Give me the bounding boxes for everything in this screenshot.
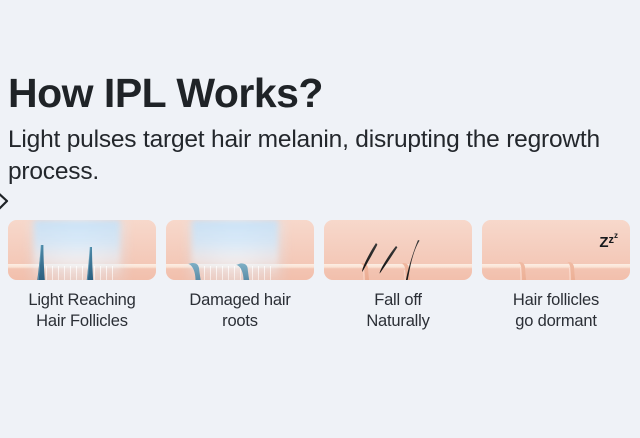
sleep-zzz-icon: Zzz	[599, 232, 618, 251]
step-caption-1-line2: Hair Follicles	[36, 312, 128, 330]
step-caption-1: Light Reaching Hair Follicles	[8, 290, 156, 332]
step-caption-3: Fall off Naturally	[324, 290, 472, 332]
zzz-z1: Z	[599, 234, 608, 251]
step-illustration-1	[8, 220, 156, 280]
infographic-page: How IPL Works? Light pulses target hair …	[0, 0, 640, 438]
step-caption-4-line2: go dormant	[515, 312, 596, 330]
step-item-4: Zzz Hair follicles go dormant	[482, 220, 630, 332]
page-title: How IPL Works?	[8, 73, 323, 115]
step-illustration-3	[324, 220, 472, 280]
step-item-2: Damaged hair roots	[166, 220, 314, 332]
step-caption-4: Hair follicles go dormant	[482, 290, 630, 332]
hair-follicle-group-damaged	[166, 220, 314, 280]
step-caption-3-line1: Fall off	[374, 291, 422, 309]
step-caption-4-line1: Hair follicles	[513, 291, 599, 309]
step-illustration-2	[166, 220, 314, 280]
step-caption-2-line1: Damaged hair	[189, 291, 290, 309]
hair-follicle-group-healthy	[8, 220, 156, 280]
falling-hair-group	[324, 220, 472, 280]
step-item-1: Light Reaching Hair Follicles	[8, 220, 156, 332]
step-item-3: Fall off Naturally	[324, 220, 472, 332]
step-illustration-4: Zzz	[482, 220, 630, 280]
step-caption-1-line1: Light Reaching	[28, 291, 135, 309]
zzz-z3: z	[614, 231, 618, 240]
step-caption-2-line2: roots	[222, 312, 258, 330]
page-subtitle: Light pulses target hair melanin, disrup…	[8, 124, 624, 189]
step-caption-2: Damaged hair roots	[166, 290, 314, 332]
step-caption-3-line2: Naturally	[366, 312, 429, 330]
steps-row: Light Reaching Hair Follicles	[8, 220, 632, 332]
